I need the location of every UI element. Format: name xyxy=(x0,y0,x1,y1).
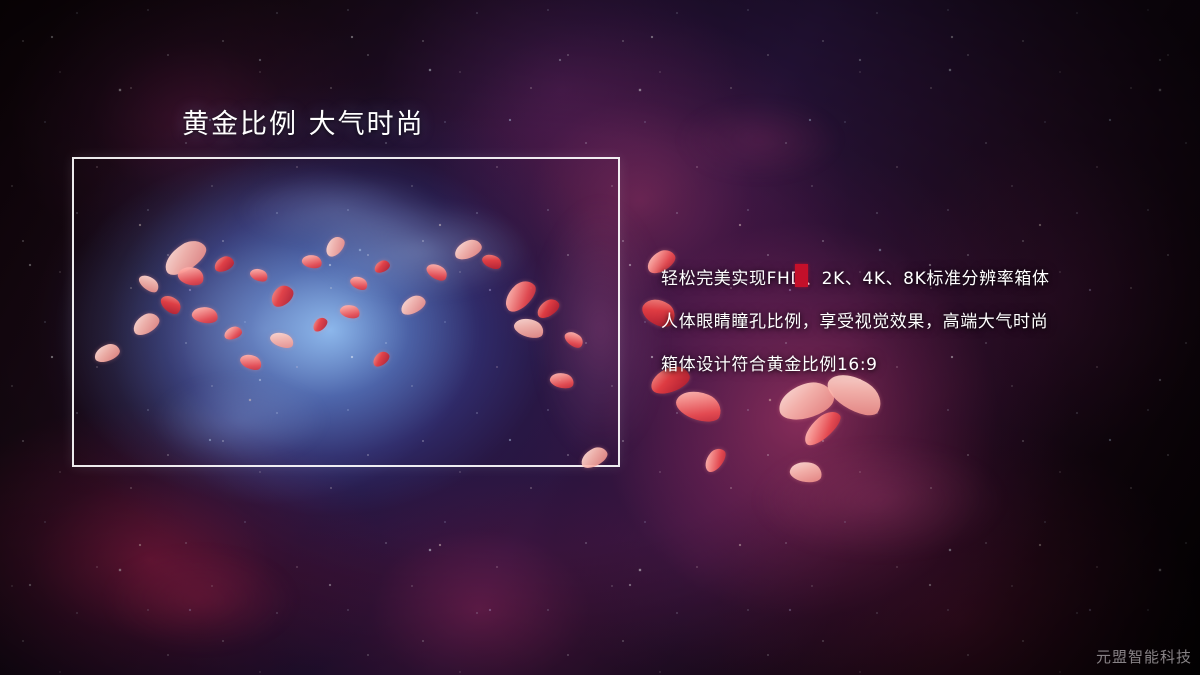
petal xyxy=(136,271,161,295)
petal xyxy=(348,273,370,292)
petal xyxy=(191,304,220,325)
description-line-3: 箱体设计符合黄金比例16:9 xyxy=(661,344,1161,387)
petal xyxy=(452,237,484,263)
petal xyxy=(398,292,428,317)
watermark: 元盟智能科技 xyxy=(1096,646,1192,667)
description-line-1: 轻松完美实现FHD、2K、4K、8K标准分辨率箱体 xyxy=(661,258,1161,301)
petal xyxy=(370,349,392,369)
petal xyxy=(310,315,329,334)
petal xyxy=(534,296,562,321)
petal xyxy=(223,325,243,341)
petal xyxy=(373,258,392,274)
petal xyxy=(562,328,586,351)
petal xyxy=(338,302,361,321)
text-caret-highlight xyxy=(795,264,808,287)
petal xyxy=(248,266,269,284)
petal xyxy=(424,260,450,284)
petal xyxy=(267,282,297,311)
page-title: 黄金比例 大气时尚 xyxy=(182,102,425,141)
petal xyxy=(238,351,264,373)
petal xyxy=(212,254,236,274)
petal xyxy=(129,309,162,338)
presentation-slide: 黄金比例 大气时尚 轻松完美实现FHD、2K、4K、8K标准分辨率箱体 人体眼睛… xyxy=(0,0,1200,675)
galaxy-photo-frame xyxy=(72,157,620,467)
petal xyxy=(92,341,122,364)
petal xyxy=(268,329,295,351)
petal xyxy=(322,233,348,259)
petal xyxy=(512,314,546,341)
description-line-1-text: 轻松完美实现FHD、2K、4K、8K标准分辨率箱体 xyxy=(661,269,1050,289)
petal xyxy=(301,253,324,271)
petal xyxy=(158,291,184,317)
petal xyxy=(480,251,504,272)
petal xyxy=(499,276,540,316)
description-line-2: 人体眼睛瞳孔比例，享受视觉效果，高端大气时尚 xyxy=(661,301,1161,344)
description-block: 轻松完美实现FHD、2K、4K、8K标准分辨率箱体 人体眼睛瞳孔比例，享受视觉效… xyxy=(661,258,1161,387)
petal xyxy=(548,370,575,391)
